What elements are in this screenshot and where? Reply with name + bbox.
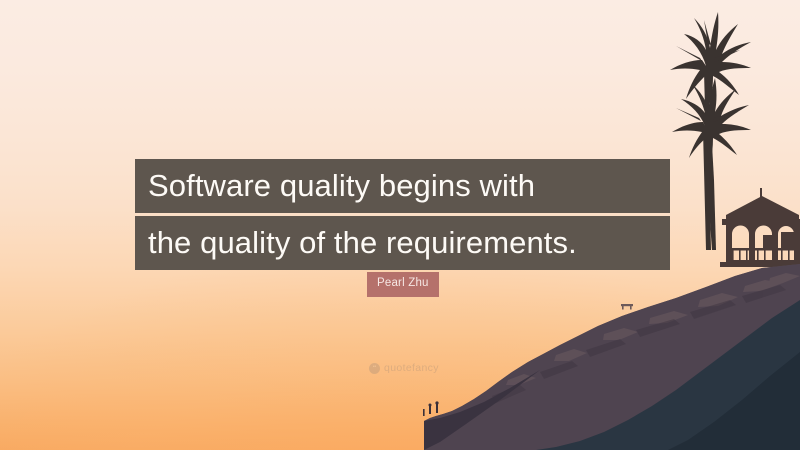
watermark-label: quotefancy: [384, 363, 439, 374]
cliff-post-icon: [423, 409, 425, 416]
quote-line-1: Software quality begins with: [135, 159, 670, 213]
quote-badge-icon: “: [369, 363, 380, 374]
gazebo-icon: [720, 188, 800, 267]
bench-on-ridge-icon: [621, 304, 633, 310]
cliff-figures-icon: [429, 401, 439, 414]
quote-text-block: Software quality begins with the quality…: [135, 159, 670, 270]
author-name-badge: Pearl Zhu: [367, 272, 439, 297]
watermark: “ quotefancy: [369, 363, 439, 374]
quote-line-2: the quality of the requirements.: [135, 216, 670, 270]
quote-image-canvas: Software quality begins with the quality…: [0, 0, 800, 450]
